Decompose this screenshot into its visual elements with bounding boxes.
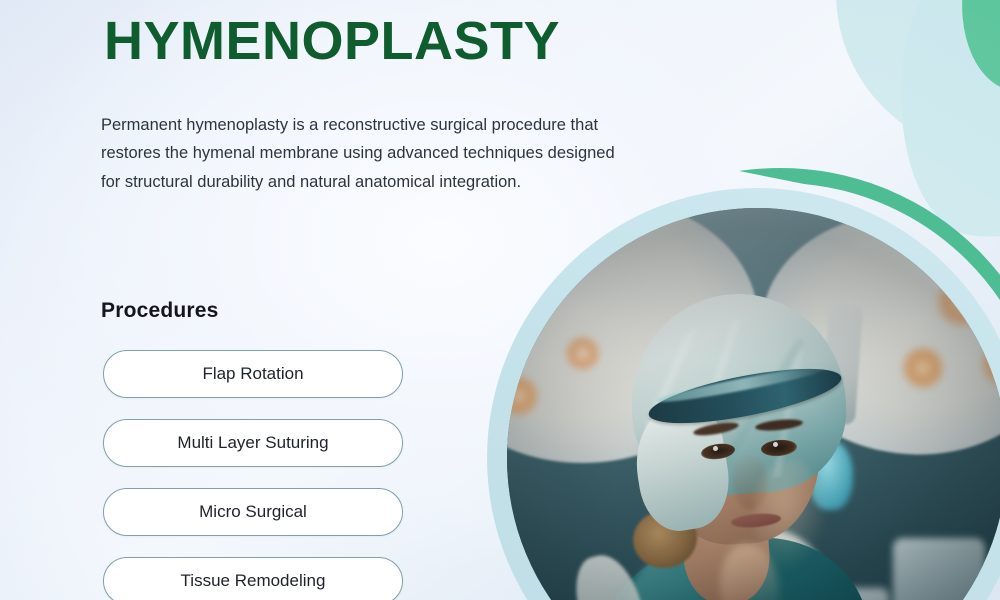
procedure-label: Multi Layer Suturing (177, 433, 328, 453)
procedure-label: Flap Rotation (202, 364, 303, 384)
poster-canvas: HYMENOPLASTY Permanent hymenoplasty is a… (0, 0, 1000, 600)
procedure-pill-2[interactable]: Micro Surgical (103, 488, 403, 536)
photo-inner (507, 208, 1000, 600)
surgeon-photo (507, 208, 1000, 600)
procedure-pill-0[interactable]: Flap Rotation (103, 350, 403, 398)
procedure-label: Tissue Remodeling (181, 571, 326, 591)
procedure-pill-3[interactable]: Tissue Remodeling (103, 557, 403, 600)
intro-paragraph: Permanent hymenoplasty is a reconstructi… (101, 111, 621, 196)
procedure-pill-1[interactable]: Multi Layer Suturing (103, 419, 403, 467)
procedures-list: Flap Rotation Multi Layer Suturing Micro… (103, 350, 403, 600)
procedures-heading: Procedures (101, 299, 219, 323)
page-title: HYMENOPLASTY (104, 12, 560, 71)
procedure-label: Micro Surgical (199, 502, 307, 522)
photo-vignette (507, 208, 1000, 600)
